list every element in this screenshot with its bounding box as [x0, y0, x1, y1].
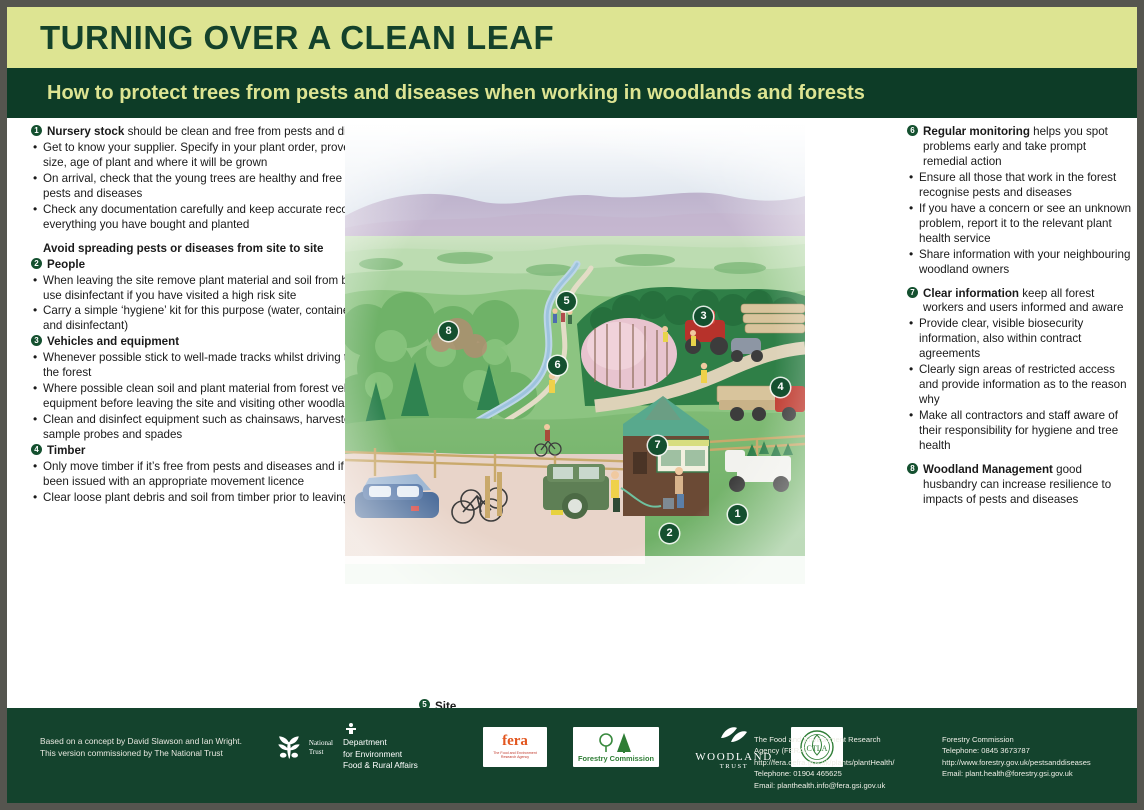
- trees-icon: [594, 731, 638, 753]
- leaves-icon: [717, 724, 751, 746]
- scene-marker-4: 4: [771, 378, 790, 397]
- section-heading: 7 Clear information keep all forest work…: [907, 287, 1133, 317]
- section-heading-text: Timber: [47, 444, 85, 459]
- section-heading: 4 Timber: [31, 444, 399, 459]
- section-heading-text: Woodland Management good husbandry can i…: [923, 463, 1133, 508]
- section-heading-text: People: [47, 258, 85, 273]
- section-heading-text: Vehicles and equipment: [47, 335, 179, 350]
- step-number-badge: 4: [31, 444, 42, 455]
- national-trust-logo: National Trust: [275, 732, 333, 762]
- fc-email[interactable]: Email: plant.health@forestry.gsi.gov.uk: [942, 768, 1137, 779]
- royal-crest-icon: [343, 722, 359, 734]
- section-nursery-stock: 1 Nursery stock should be clean and free…: [31, 125, 399, 233]
- fera-org-line1: The Food and Environment Research: [754, 734, 934, 745]
- poster: TURNING OVER A CLEAN LEAF How to protect…: [7, 7, 1137, 803]
- credit-line-2: This version commissioned by The Nationa…: [40, 747, 275, 759]
- fera-logo: fera The Food and Environment Research A…: [483, 727, 547, 767]
- section-heading: 3 Vehicles and equipment: [31, 335, 399, 350]
- step-number-badge: 7: [907, 287, 918, 298]
- section-people: 2 People When leaving the site remove pl…: [31, 258, 399, 335]
- bullet-item: Where possible clean soil and plant mate…: [31, 382, 399, 412]
- section-heading: 2 People: [31, 258, 399, 273]
- fera-contact: The Food and Environment Research Agency…: [754, 734, 934, 791]
- section-heading-text: Clear information keep all forest worker…: [923, 287, 1133, 317]
- fera-wordmark: fera: [502, 734, 528, 749]
- right-column: 6 Regular monitoring helps you spot prob…: [907, 124, 1133, 508]
- section-regular-monitoring: 6 Regular monitoring helps you spot prob…: [907, 125, 1133, 278]
- fc-org-line1: Forestry Commission: [942, 734, 1137, 745]
- bullet-item: On arrival, check that the young trees a…: [31, 172, 399, 202]
- bullet-item: When leaving the site remove plant mater…: [31, 274, 399, 304]
- step-number-badge: 2: [31, 258, 42, 269]
- bullet-item: Whenever possible stick to well-made tra…: [31, 351, 399, 381]
- section-heading: 1 Nursery stock should be clean and free…: [31, 125, 399, 140]
- fera-url[interactable]: http://fera.defra.gov.uk/plants/plantHea…: [754, 757, 934, 768]
- bullet-item: Ensure all those that work in the forest…: [907, 171, 1133, 201]
- poster-footer: Based on a concept by David Slawson and …: [7, 708, 1137, 803]
- bullet-item: Get to know your supplier. Specify in yo…: [31, 141, 399, 171]
- step-number-badge: 1: [31, 125, 42, 136]
- poster-body: 1 Nursery stock should be clean and free…: [7, 118, 1137, 695]
- national-trust-wordmark: National Trust: [309, 739, 333, 757]
- bullet-item: Carry a simple ‘hygiene’ kit for this pu…: [31, 304, 399, 334]
- nt-line2: Trust: [309, 748, 333, 757]
- defra-line3: Food & Rural Affairs: [343, 760, 471, 771]
- poster-header-band: TURNING OVER A CLEAN LEAF: [7, 7, 1137, 68]
- fera-sub2: Research Agency: [493, 755, 537, 760]
- forest-scene-illustration: 1 2 3 4 5 6 7 8: [345, 124, 805, 584]
- step-number-badge: 8: [907, 463, 918, 474]
- fera-telephone: Telephone: 01904 465625: [754, 768, 934, 779]
- scene-marker-7: 7: [648, 436, 667, 455]
- bullet-item: Check any documentation carefully and ke…: [31, 203, 399, 233]
- bullet-item: Make all contractors and staff aware of …: [907, 409, 1133, 454]
- fera-email[interactable]: Email: planthealth.info@fera.gsi.gov.uk: [754, 780, 934, 791]
- defra-line1: Department: [343, 737, 471, 748]
- section-clear-information: 7 Clear information keep all forest work…: [907, 287, 1133, 454]
- scene-marker-8: 8: [439, 322, 458, 341]
- credit-line-1: Based on a concept by David Slawson and …: [40, 735, 275, 747]
- page-title: TURNING OVER A CLEAN LEAF: [40, 19, 554, 57]
- forestry-commission-contact: Forestry Commission Telephone: 0845 3673…: [942, 734, 1137, 780]
- spacer: [907, 454, 1133, 462]
- scene-marker-6: 6: [548, 356, 567, 375]
- step-number-badge: 3: [31, 335, 42, 346]
- fera-org-line2: Agency (FERA): [754, 745, 934, 756]
- section-heading: 8 Woodland Management good husbandry can…: [907, 463, 1133, 508]
- defra-logo: Department for Environment Food & Rural …: [343, 722, 471, 771]
- page-subtitle: How to protect trees from pests and dise…: [47, 82, 865, 105]
- bullet-item: Share information with your neighbouring…: [907, 248, 1133, 278]
- section-woodland-management: 8 Woodland Management good husbandry can…: [907, 463, 1133, 508]
- bullet-item: Clearly sign areas of restricted access …: [907, 363, 1133, 408]
- step-number-badge: 6: [907, 125, 918, 136]
- scene-marker-3: 3: [694, 307, 713, 326]
- section-vehicles-and-equipment: 3 Vehicles and equipment Whenever possib…: [31, 335, 399, 443]
- fc-url[interactable]: http://www.forestry.gov.uk/pestsanddisea…: [942, 757, 1137, 768]
- forestry-commission-wordmark: Forestry Commission: [578, 754, 654, 763]
- scene-marker-5: 5: [557, 292, 576, 311]
- credit-text: Based on a concept by David Slawson and …: [40, 735, 275, 759]
- scene-marker-1: 1: [728, 505, 747, 524]
- oak-leaves-icon: [275, 732, 303, 762]
- section-heading-text: Nursery stock should be clean and free f…: [47, 125, 383, 140]
- bullet-item: Provide clear, visible biosecurity infor…: [907, 317, 1133, 362]
- poster-subtitle-band: How to protect trees from pests and dise…: [7, 68, 1137, 118]
- section-timber: 4 Timber Only move timber if it’s free f…: [31, 444, 399, 506]
- left-column: 1 Nursery stock should be clean and free…: [31, 124, 399, 506]
- section-heading-text: Regular monitoring helps you spot proble…: [923, 125, 1133, 170]
- fc-telephone: Telephone: 0845 3673787: [942, 745, 1137, 756]
- bullet-item: If you have a concern or see an unknown …: [907, 202, 1133, 247]
- scene-marker-2: 2: [660, 524, 679, 543]
- forestry-commission-logo: Forestry Commission: [573, 727, 659, 767]
- section-heading: 6 Regular monitoring helps you spot prob…: [907, 125, 1133, 170]
- nt-line1: National: [309, 739, 333, 748]
- defra-line2: for Environment: [343, 749, 471, 760]
- spacer: [907, 278, 1133, 286]
